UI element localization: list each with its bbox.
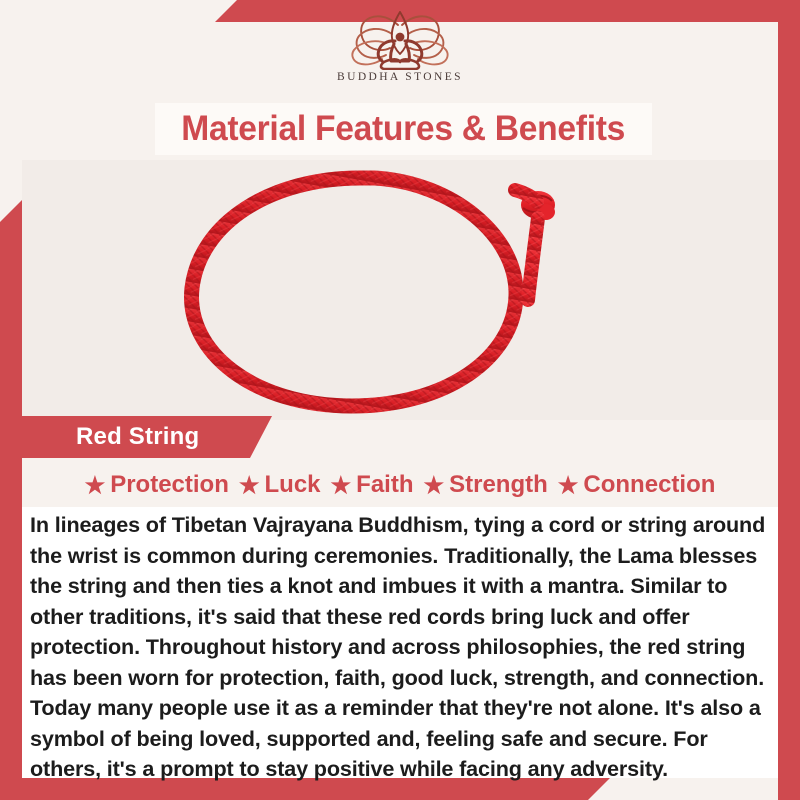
star-icon: ★ [423, 474, 444, 497]
benefit-item-luck: ★ Luck [234, 471, 326, 499]
infographic-page: BUDDHA STONES Material Features & Benefi… [0, 0, 800, 800]
page-title: Material Features & Benefits [182, 109, 626, 149]
lotus-meditation-icon [336, 8, 464, 70]
benefit-label: Faith [356, 471, 413, 499]
benefits-row: ★ Protection ★ Luck ★ Faith ★ Strength ★… [22, 463, 778, 507]
benefit-item-strength: ★ Strength [418, 471, 552, 499]
description-paragraph: In lineages of Tibetan Vajrayana Buddhis… [30, 510, 770, 785]
material-name: Red String [76, 423, 199, 451]
benefit-label: Luck [265, 471, 321, 499]
benefit-item-faith: ★ Faith [326, 471, 419, 499]
decorative-left-bar [0, 200, 22, 800]
red-string-bracelet-image [22, 160, 778, 420]
star-icon: ★ [558, 474, 579, 497]
brand-name: BUDDHA STONES [337, 71, 463, 83]
brand-header: BUDDHA STONES [0, 0, 800, 100]
benefit-item-connection: ★ Connection [553, 471, 721, 499]
description-card: In lineages of Tibetan Vajrayana Buddhis… [22, 507, 778, 778]
star-icon: ★ [85, 474, 106, 497]
title-band: Material Features & Benefits [155, 103, 652, 155]
decorative-right-bar [778, 0, 800, 800]
benefit-label: Strength [449, 471, 548, 499]
benefit-label: Protection [110, 471, 229, 499]
brand-logo: BUDDHA STONES [0, 8, 800, 83]
material-ribbon: Red String [22, 416, 272, 458]
product-photo [22, 160, 778, 420]
benefit-label: Connection [583, 471, 715, 499]
star-icon: ★ [239, 474, 260, 497]
star-icon: ★ [331, 474, 352, 497]
benefit-item-protection: ★ Protection [80, 471, 234, 499]
